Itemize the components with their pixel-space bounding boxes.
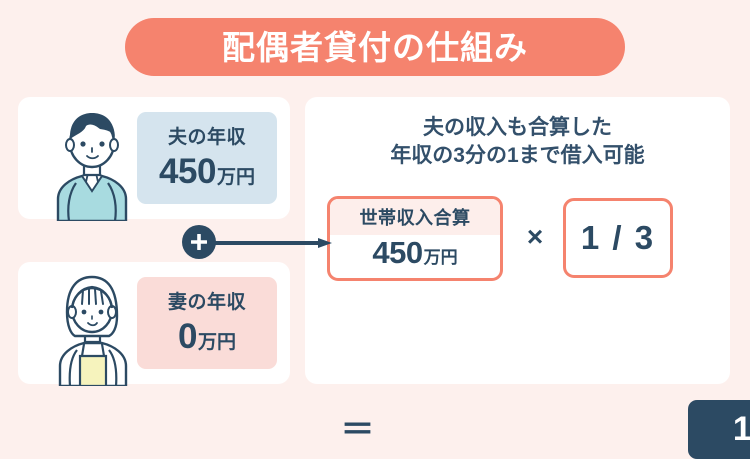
household-income-header: 世帯収入合算 <box>330 199 500 235</box>
wife-income-unit: 万円 <box>198 333 236 352</box>
result-bar: 150 万円まで借入可能 <box>688 400 750 459</box>
fraction-box: 1 / 3 <box>563 198 673 278</box>
fraction-value: 1 / 3 <box>581 219 655 257</box>
husband-income-label: 夫の年収 <box>168 128 246 147</box>
page-title: 配偶者貸付の仕組み <box>222 31 528 64</box>
husband-income-card: 夫の年収 450 万円 <box>18 97 290 219</box>
household-income-unit: 万円 <box>424 243 458 268</box>
wife-illustration <box>36 268 148 386</box>
result-amount: 150 <box>733 410 750 449</box>
husband-income-unit: 万円 <box>217 168 255 187</box>
husband-illustration <box>36 103 148 221</box>
household-income-box: 世帯収入合算 450 万円 <box>327 196 503 281</box>
household-income-label: 世帯収入合算 <box>360 204 471 230</box>
household-income-value: 450 万円 <box>330 235 500 278</box>
plus-icon <box>182 225 216 259</box>
calculation-panel: 夫の収入も合算した 年収の3分の1まで借入可能 世帯収入合算 450 万円 × … <box>305 97 730 384</box>
household-income-number: 450 <box>372 235 422 271</box>
calculation-heading-line2: 年収の3分の1まで借入可能 <box>305 142 730 170</box>
multiply-symbol: × <box>518 223 552 251</box>
wife-amount-box: 妻の年収 0 万円 <box>137 277 277 369</box>
calculation-heading: 夫の収入も合算した 年収の3分の1まで借入可能 <box>305 114 730 171</box>
husband-amount-box: 夫の年収 450 万円 <box>137 112 277 204</box>
equals-symbol: ＝ <box>335 413 380 447</box>
wife-income-label: 妻の年収 <box>168 293 246 312</box>
page-title-pill: 配偶者貸付の仕組み <box>125 18 625 76</box>
flow-arrow-icon <box>214 238 334 248</box>
calculation-heading-line1: 夫の収入も合算した <box>305 114 730 142</box>
wife-income-card: 妻の年収 0 万円 <box>18 262 290 384</box>
wife-income-number: 0 <box>178 319 197 354</box>
husband-income-number: 450 <box>159 154 216 189</box>
husband-income-value: 450 万円 <box>159 154 255 189</box>
wife-income-value: 0 万円 <box>178 319 236 354</box>
